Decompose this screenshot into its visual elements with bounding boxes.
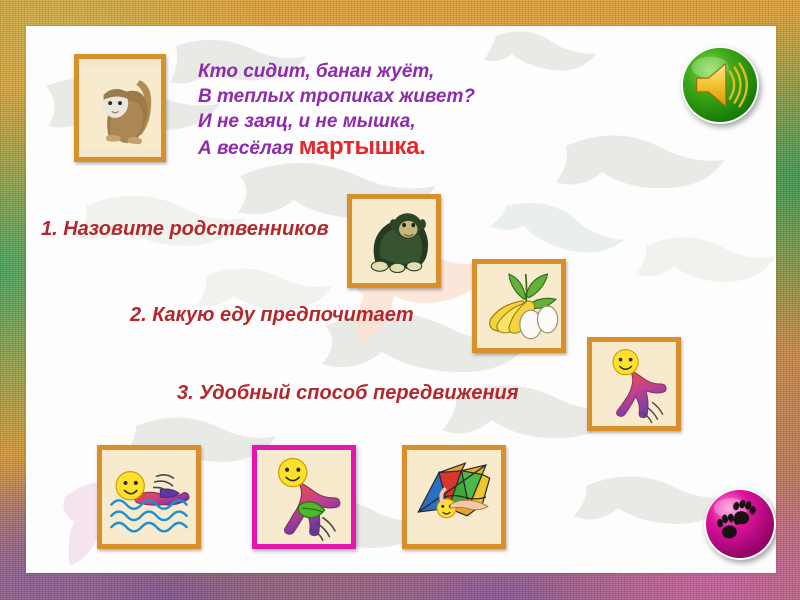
bananas-and-eggs-picture[interactable] xyxy=(472,259,566,353)
riddle-line-1: Кто сидит, банан жуёт, xyxy=(198,59,538,84)
sound-button[interactable] xyxy=(681,46,759,124)
leaf-figure-picture[interactable] xyxy=(252,445,356,549)
jumping-figure-picture[interactable] xyxy=(587,337,681,431)
slide-panel: Кто сидит, банан жуёт, В теплых тропиках… xyxy=(26,26,776,573)
paw-button[interactable] xyxy=(704,488,776,560)
riddle-line-4-prefix: А весёлая xyxy=(198,138,299,159)
riddle-line-4: А весёлая мартышка. xyxy=(198,134,538,161)
monkey-picture[interactable] xyxy=(74,54,166,162)
hang-glider-picture[interactable] xyxy=(402,445,506,549)
question-2: 2. Какую еду предпочитает xyxy=(130,304,414,327)
question-1: 1. Назовите родственников xyxy=(41,218,329,241)
question-3: 3. Удобный способ передвижения xyxy=(177,382,519,405)
riddle-text: Кто сидит, банан жуёт, В теплых тропиках… xyxy=(198,59,538,161)
riddle-answer: мартышка. xyxy=(299,133,426,160)
gorilla-picture[interactable] xyxy=(347,194,441,288)
riddle-line-3: И не заяц, и не мышка, xyxy=(198,109,538,134)
swimming-figure-picture[interactable] xyxy=(97,445,201,549)
riddle-line-2: В теплых тропиках живет? xyxy=(198,84,538,109)
